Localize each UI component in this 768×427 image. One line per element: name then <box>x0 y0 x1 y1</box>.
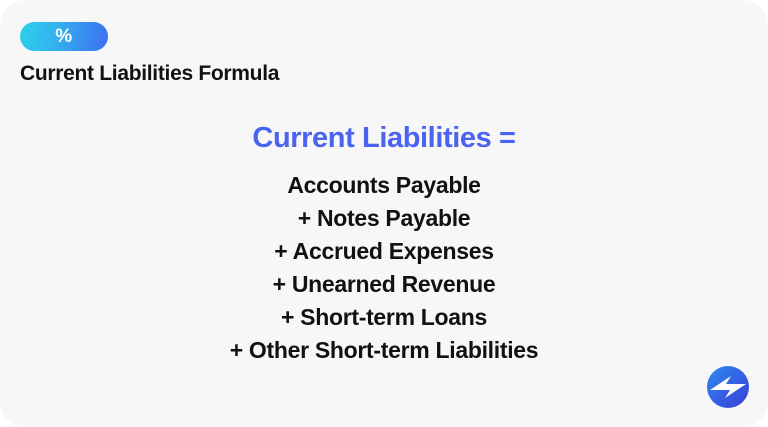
formula-block: Current Liabilities = Accounts Payable +… <box>0 122 768 367</box>
formula-heading: Current Liabilities = <box>0 122 768 155</box>
page-title: Current Liabilities Formula <box>20 62 279 85</box>
lightning-bolt-circle-logo <box>706 365 750 409</box>
formula-line: + Accrued Expenses <box>0 235 768 268</box>
formula-line: + Other Short-term Liabilities <box>0 334 768 367</box>
formula-line: + Unearned Revenue <box>0 268 768 301</box>
header: % Current Liabilities Formula <box>20 22 279 85</box>
slide-card: % Current Liabilities Formula Current Li… <box>0 0 768 427</box>
formula-line: Accounts Payable <box>0 169 768 202</box>
percent-badge: % <box>20 22 108 51</box>
formula-line: + Short-term Loans <box>0 301 768 334</box>
brand-logo <box>706 365 750 409</box>
formula-line: + Notes Payable <box>0 202 768 235</box>
percent-icon: % <box>55 27 72 46</box>
